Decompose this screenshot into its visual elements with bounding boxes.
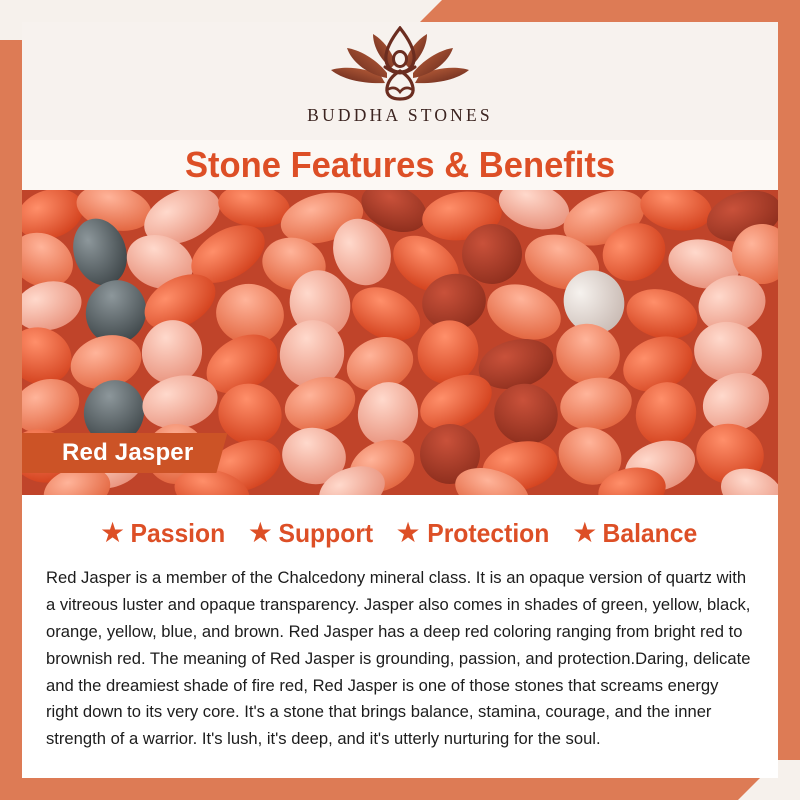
brand-header: BUDDHA STONES <box>22 22 778 140</box>
content-area: ★ Passion ★ Support ★ Protection ★ Balan… <box>22 495 778 778</box>
frame-corner-top-right <box>420 0 800 22</box>
title-bar: Stone Features & Benefits <box>22 140 778 190</box>
benefit-label: Balance <box>603 518 698 549</box>
info-card: BUDDHA STONES Stone Features & Benefits <box>22 22 778 778</box>
frame-corner-bottom-left <box>0 778 760 800</box>
benefit-item-passion: ★ Passion <box>100 518 228 549</box>
benefit-label: Support <box>278 518 373 549</box>
benefit-item-support: ★ Support <box>248 518 376 549</box>
star-icon: ★ <box>248 519 273 547</box>
benefit-label: Protection <box>427 518 549 549</box>
brand-name: BUDDHA STONES <box>307 105 493 126</box>
benefits-list: ★ Passion ★ Support ★ Protection ★ Balan… <box>44 505 756 561</box>
star-icon: ★ <box>100 519 125 547</box>
star-icon: ★ <box>396 519 421 547</box>
stone-name: Red Jasper <box>62 439 193 467</box>
page-title: Stone Features & Benefits <box>185 144 615 186</box>
benefit-label: Passion <box>131 518 226 549</box>
stone-name-banner: Red Jasper <box>22 433 227 473</box>
frame-edge-right <box>778 0 800 760</box>
stone-photo: Red Jasper <box>22 190 778 495</box>
star-icon: ★ <box>572 519 597 547</box>
benefit-item-balance: ★ Balance <box>572 518 700 549</box>
stone-description: Red Jasper is a member of the Chalcedony… <box>44 561 756 753</box>
lotus-meditation-icon <box>325 26 475 104</box>
frame-edge-left <box>0 40 22 800</box>
benefit-item-protection: ★ Protection <box>396 518 553 549</box>
